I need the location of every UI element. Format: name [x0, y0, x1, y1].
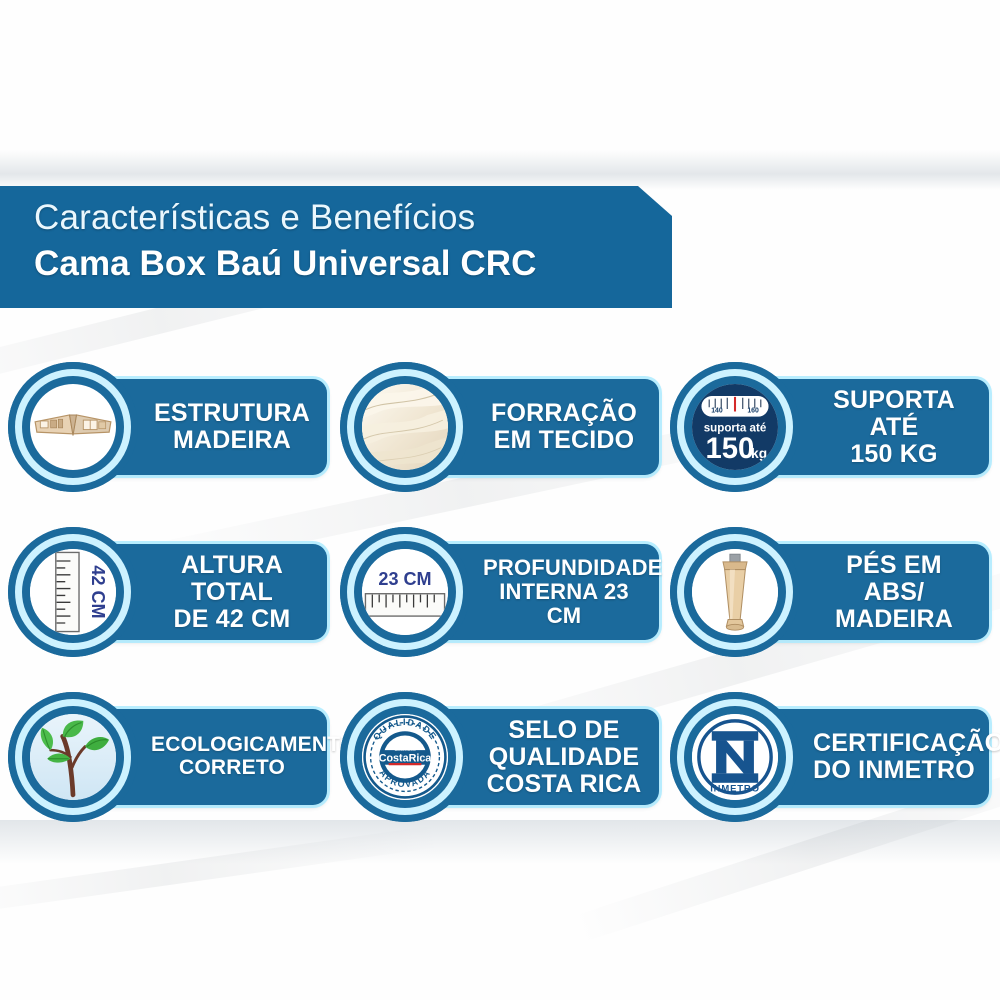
- furniture-leg-icon: [692, 549, 778, 635]
- feature-label-line: COSTA RICA: [487, 770, 642, 798]
- feature-label-line: MADEIRA: [835, 605, 953, 633]
- feature-label-line: EM TECIDO: [494, 426, 635, 454]
- horizontal-ruler-icon: 23 CM: [362, 549, 448, 635]
- svg-text:150: 150: [705, 433, 754, 465]
- feature-medallion-altura-total-42cm: 42 CM: [8, 527, 138, 657]
- feature-label-line: ESTRUTURA: [154, 399, 310, 427]
- svg-text:23 CM: 23 CM: [378, 569, 431, 589]
- feature-label-forracao-tecido: FORRAÇÃOEM TECIDO: [483, 400, 645, 454]
- feature-label-suporta-150kg: SUPORTA ATÉ150 KG: [813, 387, 975, 468]
- medallion-icon-disc: 42 CM: [30, 549, 116, 635]
- fabric-icon: [362, 384, 448, 470]
- feature-label-line: MADEIRA: [173, 426, 291, 454]
- feature-label-line: DO INMETRO: [813, 756, 975, 784]
- feature-medallion-suporta-150kg: 140 160 suporta até 150 kg: [670, 362, 800, 492]
- feature-medallion-ecologicamente-correto: [8, 692, 138, 822]
- feature-label-line: DE 42 CM: [174, 605, 291, 633]
- feature-label-line: SELO DE: [508, 716, 619, 744]
- feature-label-certificacao-inmetro: CERTIFICAÇÃODO INMETRO: [813, 730, 975, 784]
- feature-label-line: CERTIFICAÇÃO: [813, 729, 1000, 757]
- feature-medallion-pes-abs-madeira: [670, 527, 800, 657]
- wood-frame-icon: [30, 384, 116, 470]
- medallion-icon-disc: 140 160 suporta até 150 kg: [692, 384, 778, 470]
- inmetro-logo-icon: INMETRO: [692, 714, 778, 800]
- feature-label-line: 150 KG: [850, 440, 937, 468]
- medallion-icon-disc: [362, 384, 448, 470]
- feature-medallion-forracao-tecido: [340, 362, 470, 492]
- medallion-icon-disc: [30, 384, 116, 470]
- medallion-icon-disc: QUALIDADE APROVADA Colchões CostaRica: [362, 714, 448, 800]
- feature-medallion-profundidade-interna-23cm: 23 CM: [340, 527, 470, 657]
- header-title: Cama Box Baú Universal CRC: [34, 244, 536, 284]
- feature-label-line: CORRETO: [179, 756, 285, 779]
- header-subtitle: Características e Benefícios: [34, 198, 475, 238]
- medallion-icon-disc: 23 CM: [362, 549, 448, 635]
- feature-label-line: FORRAÇÃO: [491, 399, 637, 427]
- feature-label-estrutura-madeira: ESTRUTURAMADEIRA: [151, 400, 313, 454]
- svg-text:INMETRO: INMETRO: [710, 783, 760, 794]
- feature-label-selo-qualidade-costa-rica: SELO DEQUALIDADECOSTA RICA: [483, 717, 645, 798]
- medallion-icon-disc: [692, 549, 778, 635]
- feature-medallion-certificacao-inmetro: INMETRO: [670, 692, 800, 822]
- feature-label-pes-abs-madeira: PÉS EM ABS/MADEIRA: [813, 552, 975, 633]
- feature-medallion-selo-qualidade-costa-rica: QUALIDADE APROVADA Colchões CostaRica: [340, 692, 470, 822]
- medallion-icon-disc: [30, 714, 116, 800]
- svg-text:140: 140: [711, 407, 723, 414]
- feature-label-line: PÉS EM ABS/: [846, 551, 942, 606]
- header-banner: Características e Benefícios Cama Box Ba…: [0, 186, 672, 308]
- feature-label-line: SUPORTA ATÉ: [833, 386, 955, 441]
- weight-scale-icon: 140 160 suporta até 150 kg: [692, 384, 778, 470]
- feature-label-line: ALTURA TOTAL: [181, 551, 283, 606]
- feature-medallion-estrutura-madeira: [8, 362, 138, 492]
- costa-rica-seal-icon: QUALIDADE APROVADA Colchões CostaRica: [362, 714, 448, 800]
- svg-text:160: 160: [747, 407, 759, 414]
- svg-text:CostaRica: CostaRica: [379, 752, 433, 764]
- vertical-ruler-icon: 42 CM: [30, 549, 116, 635]
- feature-label-altura-total-42cm: ALTURA TOTALDE 42 CM: [151, 552, 313, 633]
- feature-label-line: QUALIDADE: [489, 743, 639, 771]
- feature-label-profundidade-interna-23cm: PROFUNDIDADEINTERNA 23 CM: [483, 556, 645, 627]
- feature-label-ecologicamente-correto: ECOLOGICAMENTOCORRETO: [151, 734, 313, 779]
- feature-badge-grid: ESTRUTURAMADEIRA FORRAÇÃOEM TECIDO: [0, 0, 1000, 1000]
- sapling-icon: [30, 714, 116, 800]
- feature-label-line: PROFUNDIDADE: [483, 555, 663, 580]
- svg-text:42 CM: 42 CM: [88, 565, 108, 618]
- medallion-icon-disc: INMETRO: [692, 714, 778, 800]
- feature-label-line: INTERNA 23 CM: [499, 579, 629, 628]
- feature-label-line: ECOLOGICAMENTO: [151, 733, 356, 756]
